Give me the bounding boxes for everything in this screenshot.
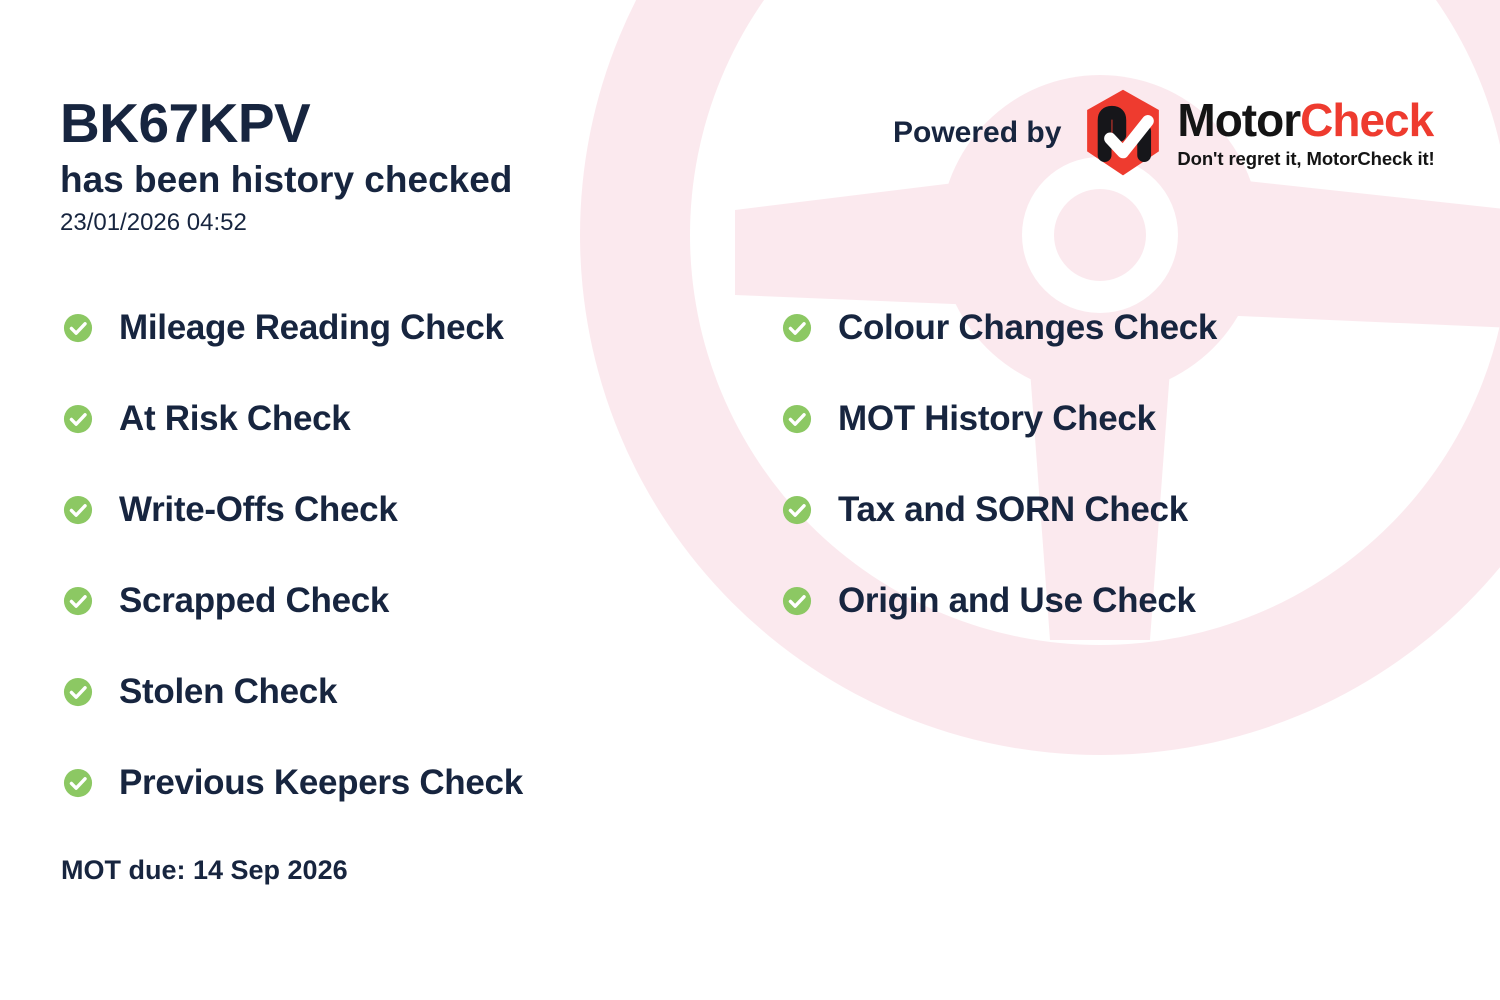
motorcheck-hexagon-logo-icon	[1077, 87, 1169, 179]
check-list-left: Mileage Reading Check At Risk Check Writ…	[63, 305, 523, 851]
check-label: Write-Offs Check	[119, 490, 398, 530]
green-check-circle-icon	[782, 495, 812, 525]
powered-by-label: Powered by	[893, 116, 1061, 150]
check-label: Origin and Use Check	[838, 581, 1196, 621]
green-check-circle-icon	[63, 677, 93, 707]
check-label: Previous Keepers Check	[119, 763, 523, 803]
green-check-circle-icon	[782, 404, 812, 434]
header-block: BK67KPV has been history checked 23/01/2…	[60, 95, 760, 237]
list-item: Scrapped Check	[63, 578, 523, 623]
list-item: Mileage Reading Check	[63, 305, 523, 350]
green-check-circle-icon	[63, 495, 93, 525]
green-check-circle-icon	[782, 313, 812, 343]
list-item: Colour Changes Check	[782, 305, 1217, 350]
list-item: At Risk Check	[63, 396, 523, 441]
vehicle-history-check-card: BK67KPV has been history checked 23/01/2…	[0, 0, 1500, 1000]
check-label: MOT History Check	[838, 399, 1156, 439]
green-check-circle-icon	[63, 768, 93, 798]
list-item: Origin and Use Check	[782, 578, 1217, 623]
check-label: Colour Changes Check	[838, 308, 1217, 348]
green-check-circle-icon	[63, 313, 93, 343]
registration-plate: BK67KPV	[60, 95, 760, 153]
motorcheck-wordmark-block: MotorCheck Don't regret it, MotorCheck i…	[1177, 97, 1434, 170]
brand-tagline: Don't regret it, MotorCheck it!	[1177, 148, 1434, 170]
check-timestamp: 23/01/2026 04:52	[60, 209, 760, 237]
check-label: At Risk Check	[119, 399, 350, 439]
green-check-circle-icon	[63, 404, 93, 434]
green-check-circle-icon	[63, 586, 93, 616]
list-item: MOT History Check	[782, 396, 1217, 441]
list-item: Previous Keepers Check	[63, 760, 523, 805]
motorcheck-wordmark: MotorCheck	[1177, 97, 1434, 143]
wordmark-motor: Motor	[1177, 94, 1300, 146]
check-label: Mileage Reading Check	[119, 308, 504, 348]
list-item: Write-Offs Check	[63, 487, 523, 532]
green-check-circle-icon	[782, 586, 812, 616]
list-item: Tax and SORN Check	[782, 487, 1217, 532]
check-label: Scrapped Check	[119, 581, 389, 621]
status-line: has been history checked	[60, 157, 760, 203]
mot-due-text: MOT due: 14 Sep 2026	[61, 855, 348, 886]
check-label: Stolen Check	[119, 672, 337, 712]
powered-by-brand-block: Powered by MotorCheck Don't regret it, M…	[893, 88, 1435, 178]
check-list-right: Colour Changes Check MOT History Check T…	[782, 305, 1217, 669]
check-label: Tax and SORN Check	[838, 490, 1188, 530]
wordmark-check: Check	[1300, 94, 1433, 146]
list-item: Stolen Check	[63, 669, 523, 714]
